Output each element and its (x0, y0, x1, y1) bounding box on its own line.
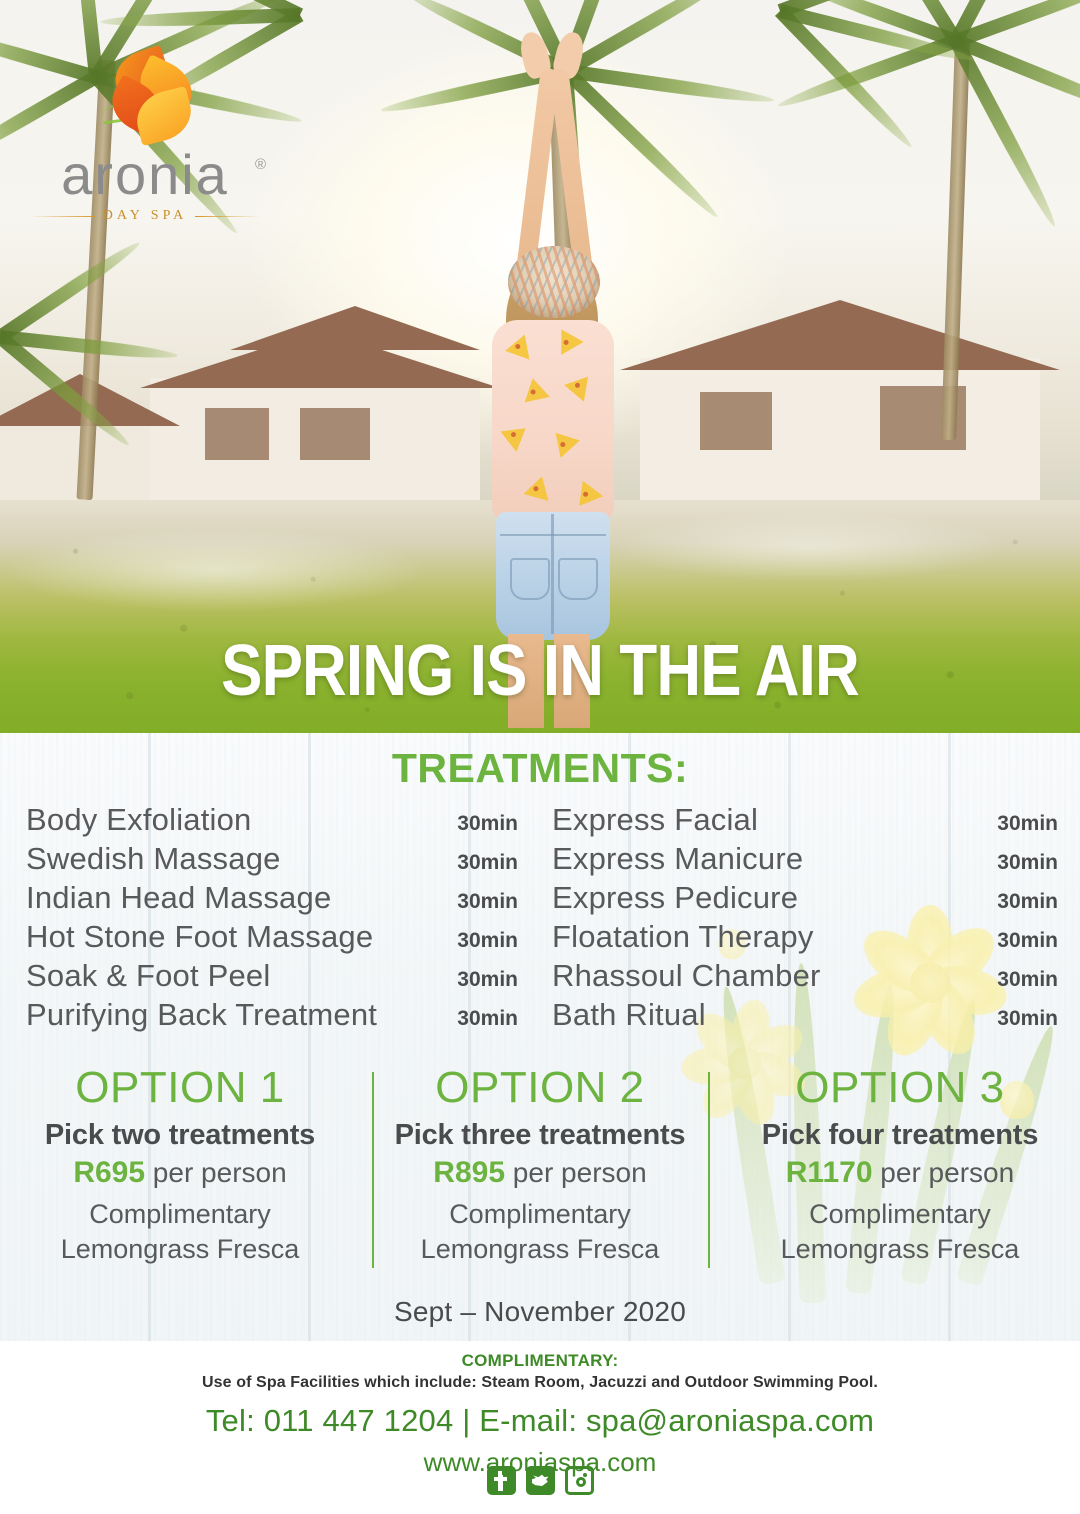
option-complimentary-line-1: Complimentary (374, 1197, 706, 1232)
denim-shorts (496, 512, 610, 640)
straw-hat (508, 246, 600, 318)
treatment-duration: 30min (997, 929, 1058, 953)
option-pick-text: Pick three treatments (374, 1116, 706, 1154)
treatment-name: Rhassoul Chamber (552, 958, 821, 994)
option-per-person: per person (505, 1157, 647, 1188)
treatment-row: Body Exfoliation 30min (26, 802, 518, 841)
logo[interactable]: aronia ® DAY SPA (30, 48, 260, 218)
option-complimentary-line-1: Complimentary (14, 1197, 346, 1232)
treatment-duration: 30min (997, 890, 1058, 914)
registered-mark: ® (255, 156, 266, 173)
option-card-2[interactable]: OPTION 2 Pick three treatments R895 per … (360, 1060, 720, 1267)
treatment-row: Rhassoul Chamber 30min (552, 958, 1058, 997)
complimentary-text: Use of Spa Facilities which include: Ste… (0, 1374, 1080, 1392)
treatment-duration: 30min (457, 812, 518, 836)
treatment-duration: 30min (457, 1007, 518, 1031)
treatment-duration: 30min (997, 968, 1058, 992)
woman-figure (470, 28, 635, 728)
treatment-duration: 30min (457, 929, 518, 953)
treatments-heading: TREATMENTS: (0, 745, 1080, 792)
aronia-bloom-icon (92, 48, 202, 146)
facebook-icon[interactable] (487, 1466, 516, 1495)
treatment-row: Indian Head Massage 30min (26, 880, 518, 919)
treatments-columns: Body Exfoliation 30min Swedish Massage 3… (0, 802, 1080, 1036)
treatment-duration: 30min (997, 812, 1058, 836)
treatment-row: Swedish Massage 30min (26, 841, 518, 880)
treatment-name: Hot Stone Foot Massage (26, 919, 373, 955)
treatment-name: Bath Ritual (552, 997, 706, 1033)
treatment-duration: 30min (457, 968, 518, 992)
treatment-name: Express Manicure (552, 841, 803, 877)
spa-promo-flyer: SPRING IS IN THE AIR aronia ® DAY SPA (0, 0, 1080, 1514)
rule-right (195, 216, 260, 217)
treatment-name: Soak & Foot Peel (26, 958, 270, 994)
instagram-icon[interactable] (565, 1466, 594, 1495)
treatment-duration: 30min (997, 851, 1058, 875)
option-price: R695 (73, 1156, 145, 1189)
option-complimentary-line-2: Lemongrass Fresca (14, 1232, 346, 1267)
treatment-duration: 30min (457, 851, 518, 875)
option-per-person: per person (873, 1157, 1015, 1188)
validity-dates: Sept – November 2020 (0, 1296, 1080, 1328)
option-pick-text: Pick four treatments (734, 1116, 1066, 1154)
logo-tagline-row: DAY SPA (30, 208, 260, 224)
contact-line[interactable]: Tel: 011 447 1204 | E-mail: spa@aroniasp… (0, 1403, 1080, 1439)
treatment-name: Floatation Therapy (552, 919, 814, 955)
treatment-name: Indian Head Massage (26, 880, 331, 916)
twitter-icon[interactable] (526, 1466, 555, 1495)
option-title: OPTION 1 (14, 1060, 346, 1116)
option-price-row: R1170 per person (734, 1154, 1066, 1197)
option-price-row: R895 per person (374, 1154, 706, 1197)
option-price: R895 (433, 1156, 505, 1189)
headline: SPRING IS IN THE AIR (76, 634, 1005, 708)
option-price: R1170 (786, 1156, 873, 1189)
option-pick-text: Pick two treatments (14, 1116, 346, 1154)
option-price-row: R695 per person (14, 1154, 346, 1197)
treatment-row: Bath Ritual 30min (552, 997, 1058, 1036)
treatment-row: Hot Stone Foot Massage 30min (26, 919, 518, 958)
treatment-duration: 30min (997, 1007, 1058, 1031)
treatments-left-column: Body Exfoliation 30min Swedish Massage 3… (0, 802, 540, 1036)
treatment-name: Swedish Massage (26, 841, 281, 877)
treatment-row: Floatation Therapy 30min (552, 919, 1058, 958)
logo-wordmark: aronia (30, 144, 260, 206)
option-complimentary-line-1: Complimentary (734, 1197, 1066, 1232)
treatment-row: Soak & Foot Peel 30min (26, 958, 518, 997)
treatment-duration: 30min (457, 890, 518, 914)
option-card-3[interactable]: OPTION 3 Pick four treatments R1170 per … (720, 1060, 1080, 1267)
treatment-row: Express Pedicure 30min (552, 880, 1058, 919)
option-complimentary-line-2: Lemongrass Fresca (734, 1232, 1066, 1267)
pizza-print-top (492, 320, 614, 522)
rule-left (30, 216, 95, 217)
options-row: OPTION 1 Pick two treatments R695 per pe… (0, 1060, 1080, 1267)
treatment-row: Express Facial 30min (552, 802, 1058, 841)
treatment-name: Body Exfoliation (26, 802, 252, 838)
complimentary-heading: COMPLIMENTARY: (0, 1351, 1080, 1371)
social-links (0, 1466, 1080, 1495)
treatment-row: Express Manicure 30min (552, 841, 1058, 880)
option-title: OPTION 2 (374, 1060, 706, 1116)
logo-tagline: DAY SPA (103, 208, 187, 224)
option-per-person: per person (145, 1157, 287, 1188)
treatment-name: Purifying Back Treatment (26, 997, 377, 1033)
option-card-1[interactable]: OPTION 1 Pick two treatments R695 per pe… (0, 1060, 360, 1267)
treatments-right-column: Express Facial 30min Express Manicure 30… (540, 802, 1080, 1036)
treatment-name: Express Facial (552, 802, 758, 838)
option-title: OPTION 3 (734, 1060, 1066, 1116)
option-complimentary-line-2: Lemongrass Fresca (374, 1232, 706, 1267)
treatment-name: Express Pedicure (552, 880, 798, 916)
treatment-row: Purifying Back Treatment 30min (26, 997, 518, 1036)
